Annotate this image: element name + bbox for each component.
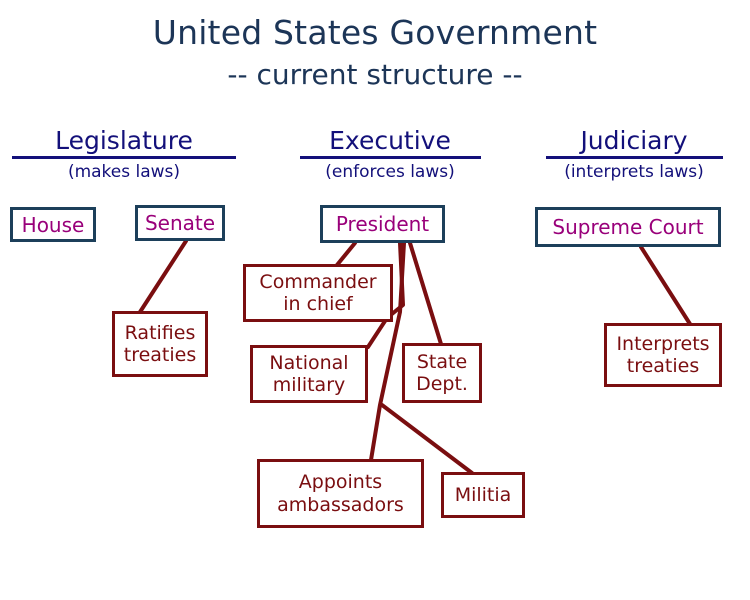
node-national-military[interactable]: National military [250,345,368,403]
page-subtitle: -- current structure -- [0,57,750,93]
node-interprets-treaties[interactable]: Interprets treaties [604,323,722,387]
title-block: United States Government -- current stru… [0,12,750,94]
node-interprets-treaties-label: Interprets treaties [616,333,709,378]
node-house[interactable]: House [10,207,96,242]
node-appoints-ambassadors[interactable]: Appoints ambassadors [257,459,424,528]
page-title: United States Government [0,12,750,53]
node-supreme-court-label: Supreme Court [552,216,703,238]
node-ratifies-treaties-label: Ratifies treaties [124,322,197,367]
node-senate[interactable]: Senate [135,205,225,241]
connector-senate-to-ratifies-treaties [140,241,186,312]
branch-name-judiciary: Judiciary [518,128,750,154]
connector-president-to-commander-in-chief [337,243,355,265]
node-national-military-label: National military [269,352,348,397]
node-state-dept-label: State Dept. [416,351,468,396]
node-militia[interactable]: Militia [441,472,525,518]
branch-rule-executive [300,156,481,159]
node-appoints-ambassadors-label: Appoints ambassadors [277,471,404,516]
node-senate-label: Senate [145,212,215,234]
branch-heading-judiciary: Judiciary (interprets laws) [518,128,750,182]
branch-description-legislature: (makes laws) [0,163,248,182]
node-president[interactable]: President [320,205,445,243]
branch-description-executive: (enforces laws) [290,163,490,182]
diagram-canvas: United States Government -- current stru… [0,0,750,600]
node-state-dept[interactable]: State Dept. [402,343,482,403]
node-commander-in-chief[interactable]: Commander in chief [243,264,393,322]
branch-name-executive: Executive [290,128,490,154]
node-supreme-court[interactable]: Supreme Court [535,207,721,247]
node-militia-label: Militia [455,484,512,506]
connector-president-to-state-dept [410,243,441,344]
node-house-label: House [22,214,85,236]
connector-supreme-court-to-interprets-treaties [641,247,690,324]
node-ratifies-treaties[interactable]: Ratifies treaties [112,311,208,377]
node-commander-in-chief-label: Commander in chief [259,271,376,316]
node-president-label: President [336,213,429,235]
branch-name-legislature: Legislature [0,128,248,154]
branch-description-judiciary: (interprets laws) [518,163,750,182]
branch-heading-legislature: Legislature (makes laws) [0,128,248,182]
branch-rule-judiciary [546,156,723,159]
branch-heading-executive: Executive (enforces laws) [290,128,490,182]
branch-rule-legislature [12,156,236,159]
